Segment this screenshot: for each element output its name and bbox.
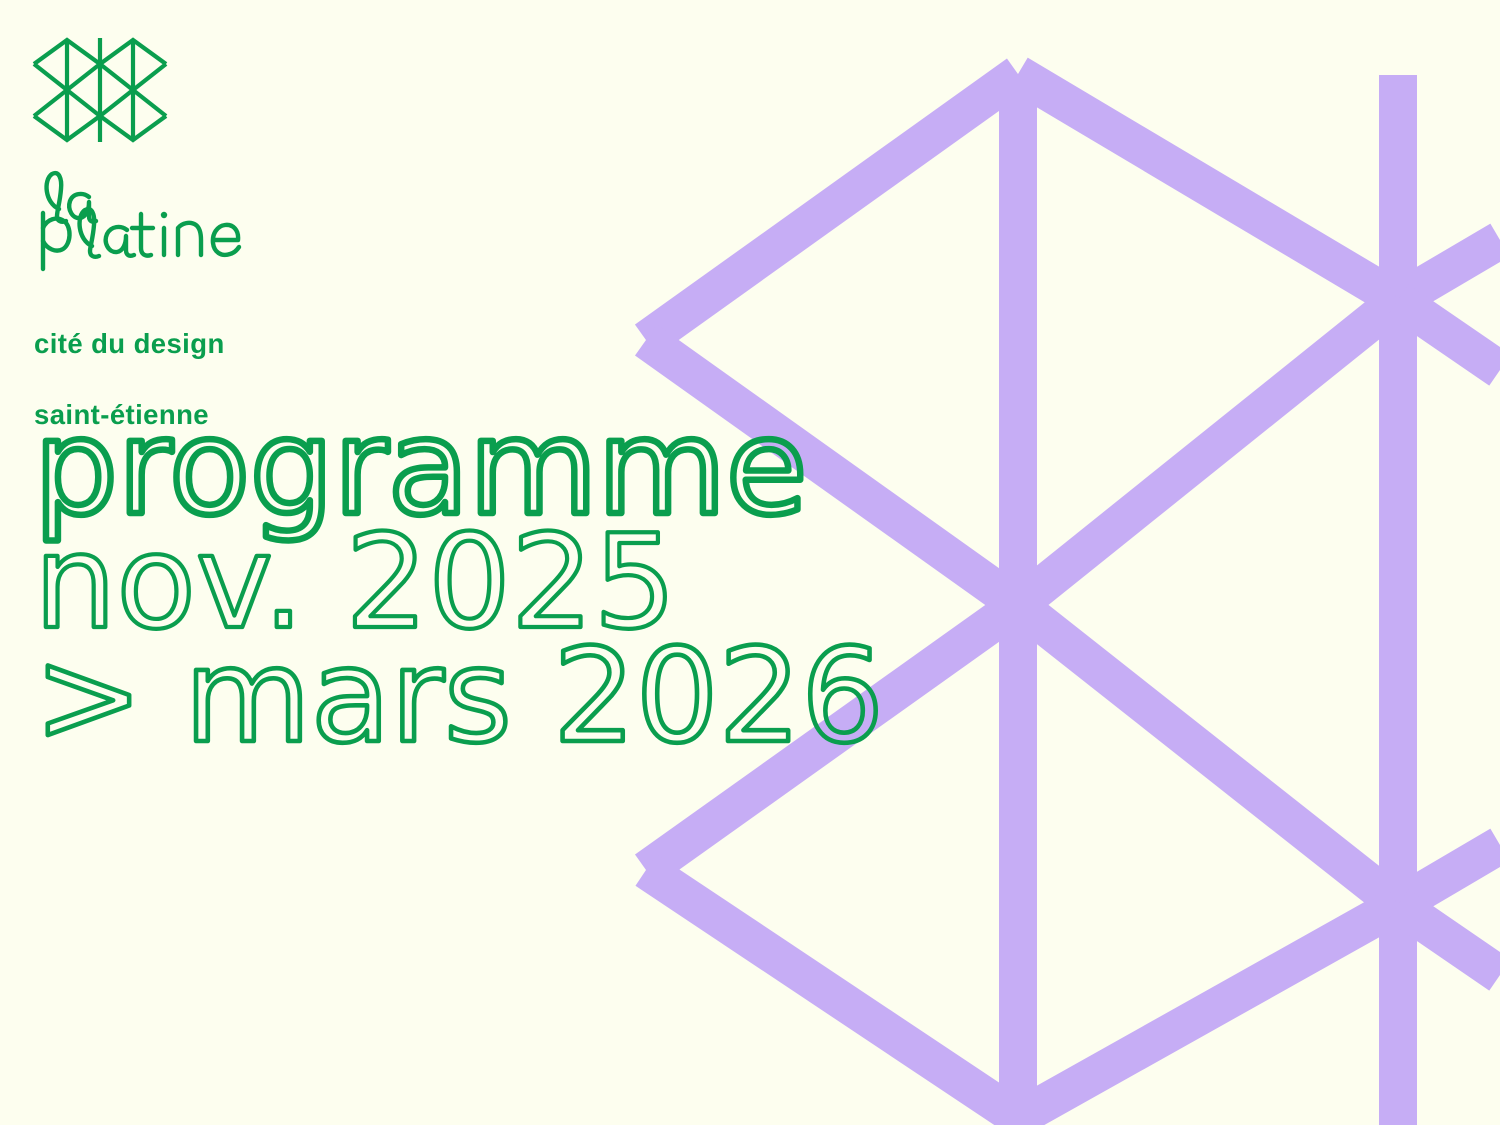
headline-line-mars: > mars 2026 bbox=[34, 649, 934, 767]
lattice-edge bbox=[646, 870, 1018, 1118]
headline-mars-text: > mars 2026 bbox=[34, 620, 884, 772]
lattice-edge bbox=[1018, 300, 1398, 605]
lattice-edge bbox=[646, 74, 1018, 340]
tagline-line-1: cité du design bbox=[34, 326, 370, 362]
triangular-lattice-logo-mark bbox=[30, 34, 182, 146]
poster-canvas: cité du design saint-étienne programme n… bbox=[0, 0, 1500, 1125]
lattice-edge bbox=[1398, 240, 1500, 300]
lattice-edge bbox=[1018, 605, 1398, 905]
lattice-edge bbox=[1018, 905, 1398, 1118]
lattice-edge bbox=[1398, 845, 1500, 905]
lattice-edge bbox=[1018, 74, 1398, 300]
headline-block: programme nov. 2025 > mars 2026 bbox=[34, 417, 934, 767]
la-platine-wordmark bbox=[33, 166, 265, 274]
lattice-edge bbox=[1398, 905, 1500, 975]
lattice-edge bbox=[1398, 300, 1500, 370]
